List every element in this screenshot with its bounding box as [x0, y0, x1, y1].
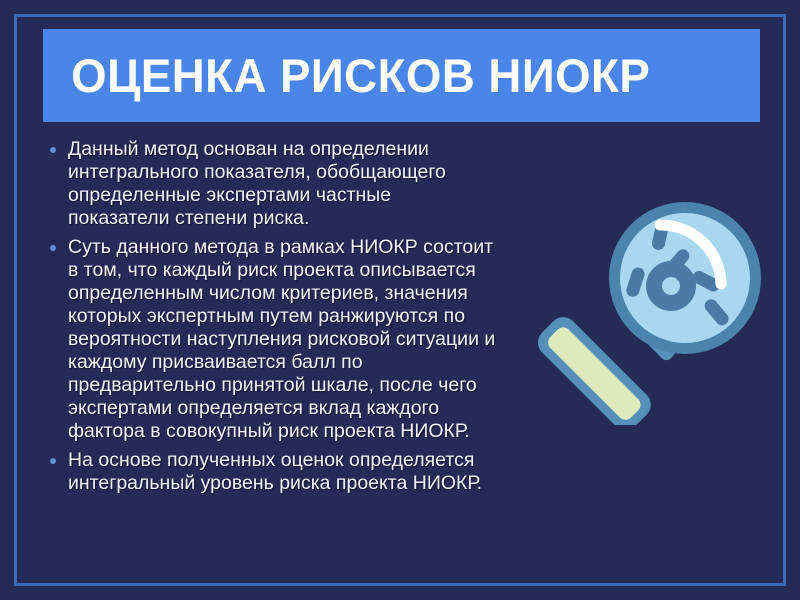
list-item: На основе полученных оценок определяется…	[46, 449, 498, 495]
bullet-list: Данный метод основан на определении инте…	[46, 138, 498, 501]
title-banner: ОЦЕНКА РИСКОВ НИОКР	[43, 29, 760, 122]
magnifying-glass-icon	[505, 185, 775, 425]
list-item: Данный метод основан на определении инте…	[46, 138, 498, 230]
page-title: ОЦЕНКА РИСКОВ НИОКР	[43, 52, 650, 99]
slide: ОЦЕНКА РИСКОВ НИОКР Данный метод основан…	[0, 0, 800, 600]
list-item: Суть данного метода в рамках НИОКР состо…	[46, 236, 498, 443]
